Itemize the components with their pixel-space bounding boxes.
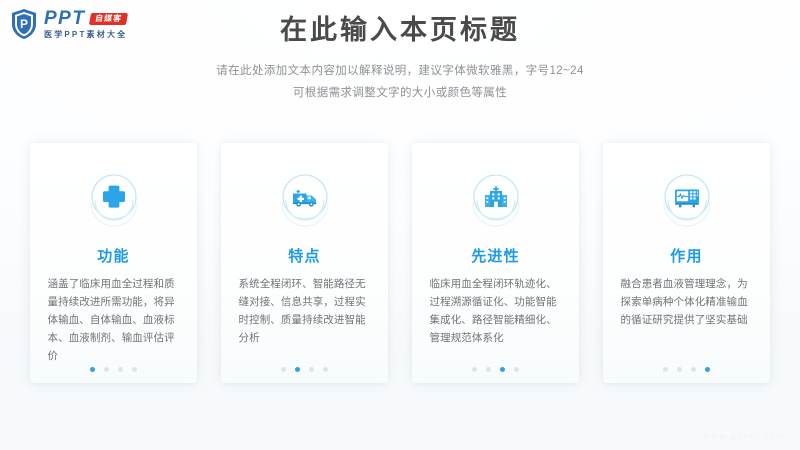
card-dots[interactable] [30,367,197,372]
page-subtitle: 请在此处添加文本内容加以解释说明，建议字体微软雅黑，字号12~24 可根据需求调… [0,60,800,105]
dot-indicator[interactable] [691,367,696,372]
feature-card[interactable]: 先进性 临床用血全程闭环轨迹化、过程溯源循证化、功能智能集成化、路径智能精细化、… [412,143,579,383]
icon-ring [273,165,337,229]
page-title: 在此输入本页标题 [0,16,800,46]
feature-card[interactable]: 特点 系统全程闭环、智能路径无缝对接、信息共享，过程实时控制、质量持续改进智能分… [221,143,388,383]
dot-indicator[interactable] [104,367,109,372]
card-dots[interactable] [412,367,579,372]
card-body: 融合患者血液管理理念，为探索单病种个体化精准输血的循证研究提供了坚实基础 [621,275,753,329]
card-row: 功能 涵盖了临床用血全过程和质量持续改进所需功能，将异体输血、自体输血、血液标本… [0,143,800,383]
page-header: 在此输入本页标题 请在此处添加文本内容加以解释说明，建议字体微软雅黑，字号12~… [0,16,800,105]
footer-watermark: www.ppter.com [703,432,786,441]
card-body: 临床用血全程闭环轨迹化、过程溯源循证化、功能智能集成化、路径智能精细化、管理规范… [430,275,562,347]
medical-cross-icon [99,182,129,212]
feature-card[interactable]: 功能 涵盖了临床用血全过程和质量持续改进所需功能，将异体输血、自体输血、血液标本… [30,143,197,383]
page-subtitle-line1: 请在此处添加文本内容加以解释说明，建议字体微软雅黑，字号12~24 [0,60,800,82]
dot-indicator[interactable] [309,367,314,372]
card-title: 特点 [288,245,320,266]
icon-ring [655,165,719,229]
icon-ring [464,165,528,229]
card-dots[interactable] [603,367,770,372]
card-title: 作用 [670,245,702,266]
dot-indicator[interactable] [514,367,519,372]
dot-indicator[interactable] [118,367,123,372]
card-title: 功能 [97,245,129,266]
card-body: 系统全程闭环、智能路径无缝对接、信息共享，过程实时控制、质量持续改进智能分析 [239,275,371,347]
dot-indicator[interactable] [281,367,286,372]
card-dots[interactable] [221,367,388,372]
dot-indicator[interactable] [705,367,710,372]
ambulance-icon [290,182,320,212]
dot-indicator[interactable] [663,367,668,372]
patient-monitor-icon [672,182,702,212]
card-title: 先进性 [471,245,520,266]
dot-indicator[interactable] [132,367,137,372]
page-subtitle-line2: 可根据需求调整文字的大小或颜色等属性 [0,82,800,104]
dot-indicator[interactable] [677,367,682,372]
dot-indicator[interactable] [323,367,328,372]
dot-indicator[interactable] [486,367,491,372]
icon-ring [82,165,146,229]
card-body: 涵盖了临床用血全过程和质量持续改进所需功能，将异体输血、自体输血、血液标本、血液… [48,275,180,365]
hospital-building-icon [481,182,511,212]
dot-indicator[interactable] [295,367,300,372]
dot-indicator[interactable] [500,367,505,372]
dot-indicator[interactable] [472,367,477,372]
feature-card[interactable]: 作用 融合患者血液管理理念，为探索单病种个体化精准输血的循证研究提供了坚实基础 [603,143,770,383]
dot-indicator[interactable] [90,367,95,372]
